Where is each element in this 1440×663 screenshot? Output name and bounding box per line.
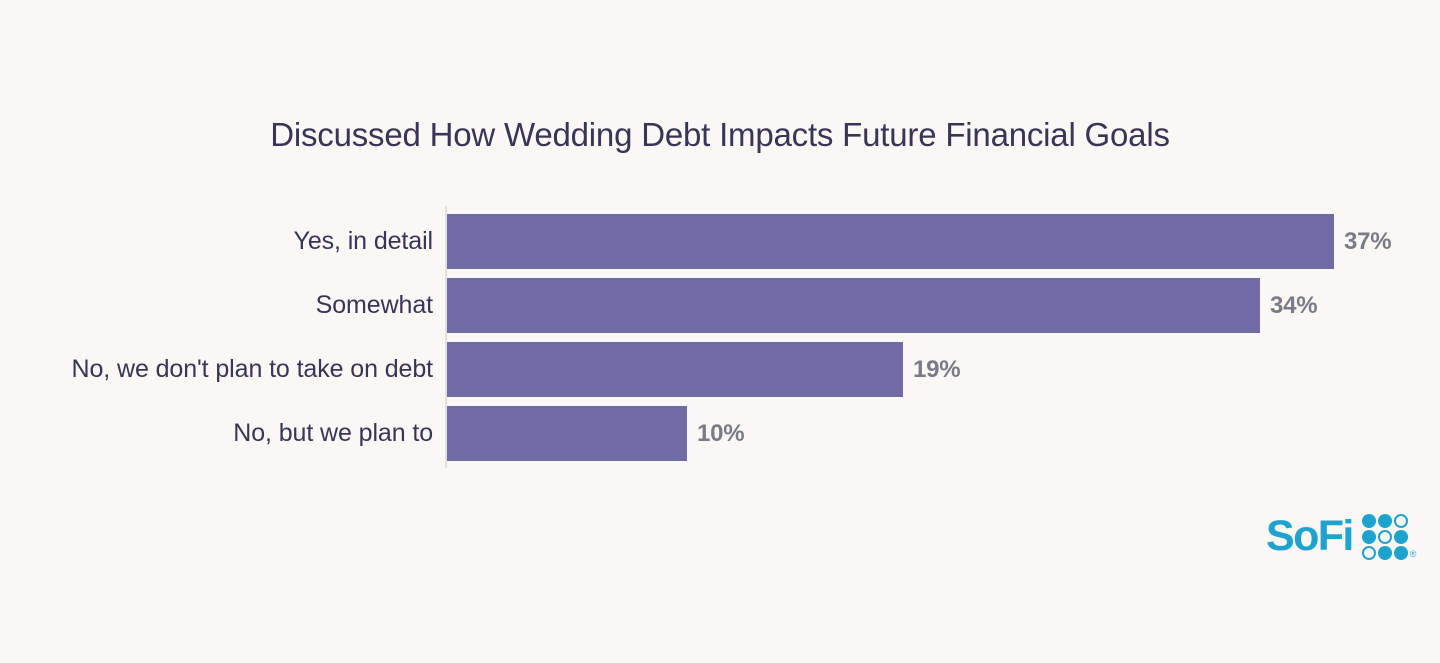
- bar-no-we-dont-plan-to-take-on-debt[interactable]: [447, 342, 903, 397]
- sofi-dot-outline-0-2: [1394, 514, 1408, 528]
- bar-somewhat[interactable]: [447, 278, 1260, 333]
- chart-figure: Discussed How Wedding Debt Impacts Futur…: [0, 0, 1440, 663]
- sofi-dot-grid-icon: [1362, 514, 1408, 560]
- page-title: Discussed How Wedding Debt Impacts Futur…: [0, 116, 1440, 154]
- chart-plot-area: Yes, in detail 37% Somewhat 34% No, we d…: [0, 214, 1440, 462]
- sofi-logo: SoFi ®: [1266, 510, 1416, 562]
- sofi-dot-outline-2-0: [1362, 546, 1376, 560]
- category-label-somewhat: Somewhat: [316, 278, 433, 333]
- category-label-no-but-we-plan-to: No, but we plan to: [233, 406, 433, 461]
- sofi-dot-filled-1-0: [1362, 530, 1376, 544]
- value-label-no-but-we-plan-to: 10%: [697, 406, 744, 461]
- sofi-dot-filled-0-0: [1362, 514, 1376, 528]
- bar-row: Somewhat 34%: [0, 278, 1440, 333]
- registered-trademark-mark: ®: [1410, 549, 1417, 559]
- bar-row: No, but we plan to 10%: [0, 406, 1440, 461]
- sofi-dot-filled-1-2: [1394, 530, 1408, 544]
- bar-row: Yes, in detail 37%: [0, 214, 1440, 269]
- bar-row: No, we don't plan to take on debt 19%: [0, 342, 1440, 397]
- sofi-dot-filled-2-2: [1394, 546, 1408, 560]
- value-label-yes-in-detail: 37%: [1344, 214, 1391, 269]
- bar-no-but-we-plan-to[interactable]: [447, 406, 687, 461]
- sofi-wordmark: SoFi: [1266, 515, 1353, 558]
- sofi-dot-filled-2-1: [1378, 546, 1392, 560]
- value-label-no-we-dont-plan-to-take-on-debt: 19%: [913, 342, 960, 397]
- category-label-no-we-dont-plan-to-take-on-debt: No, we don't plan to take on debt: [72, 342, 433, 397]
- value-label-somewhat: 34%: [1270, 278, 1317, 333]
- sofi-dot-outline-1-1: [1378, 530, 1392, 544]
- bar-yes-in-detail[interactable]: [447, 214, 1334, 269]
- sofi-dot-filled-0-1: [1378, 514, 1392, 528]
- category-label-yes-in-detail: Yes, in detail: [294, 214, 433, 269]
